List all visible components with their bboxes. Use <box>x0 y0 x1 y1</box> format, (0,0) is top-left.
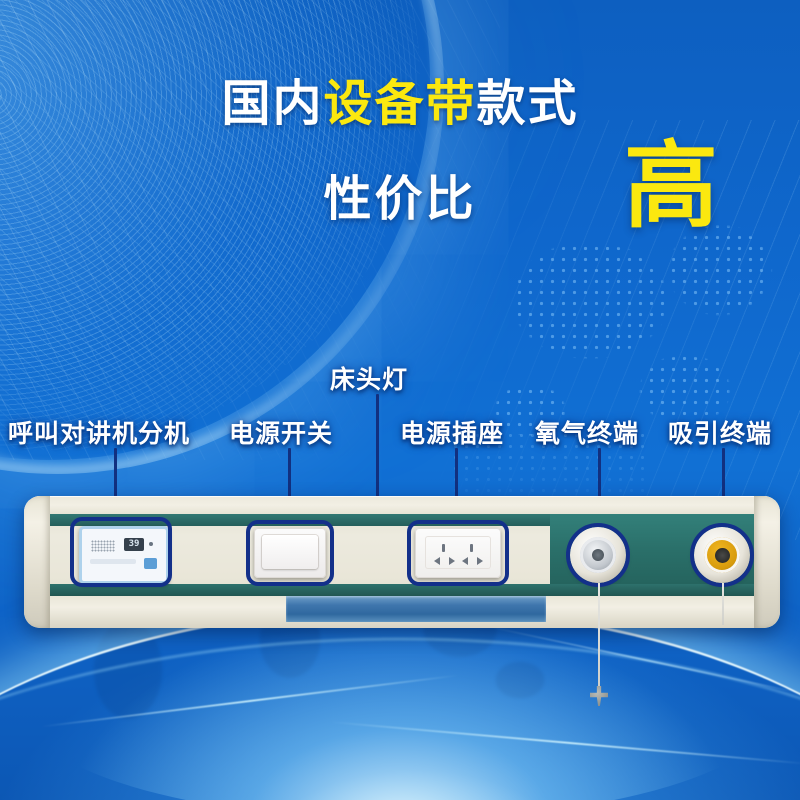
callout-label-power-outlet: 电源插座 <box>400 414 504 450</box>
suction-terminal-port <box>715 548 730 563</box>
callout-label-intercom: 呼叫对讲机分机 <box>8 414 190 450</box>
power-switch-unit[interactable] <box>254 528 326 578</box>
intercom-display: 39 <box>124 538 144 551</box>
outlet-pin-neutral-b <box>477 557 483 565</box>
callout-label-bed-lamp: 床头灯 <box>330 360 408 396</box>
intercom-call-button[interactable] <box>144 558 157 569</box>
panel-end-cap-right <box>754 496 780 628</box>
callout-label-power-switch: 电源开关 <box>229 414 333 450</box>
product-banner: 国内设备带款式 性价比 高 呼叫对讲机分机 电源开关 床头灯 电源插座 氧气终端… <box>0 0 800 800</box>
intercom-label-strip <box>90 559 136 564</box>
intercom-indicator-led <box>149 542 153 546</box>
outlet-faceplate <box>425 536 491 569</box>
suction-terminal-outlet[interactable] <box>694 527 750 583</box>
power-outlet-unit[interactable] <box>415 528 501 578</box>
oxygen-terminal-port <box>592 549 604 561</box>
panel-stripe-bottom <box>50 584 754 596</box>
bed-lamp-diffuser[interactable] <box>286 596 546 622</box>
suction-pull-cord[interactable] <box>722 583 724 625</box>
speaker-grille-icon <box>91 540 115 552</box>
outlet-pin-live-b <box>462 557 468 565</box>
outlet-pin-live-a <box>434 557 440 565</box>
outlet-pin-neutral-a <box>449 557 455 565</box>
nurse-call-intercom-unit[interactable]: 39 <box>79 526 169 584</box>
callout-label-oxygen-terminal: 氧气终端 <box>535 414 639 450</box>
oxygen-terminal-outlet[interactable] <box>570 527 626 583</box>
outlet-pin-earth-b <box>470 544 473 552</box>
panel-end-cap-left <box>24 496 50 628</box>
switch-rocker[interactable] <box>262 535 318 569</box>
oxygen-pull-cord[interactable] <box>598 583 600 691</box>
callout-label-suction-terminal: 吸引终端 <box>668 414 772 450</box>
outlet-pin-earth-a <box>442 544 445 552</box>
